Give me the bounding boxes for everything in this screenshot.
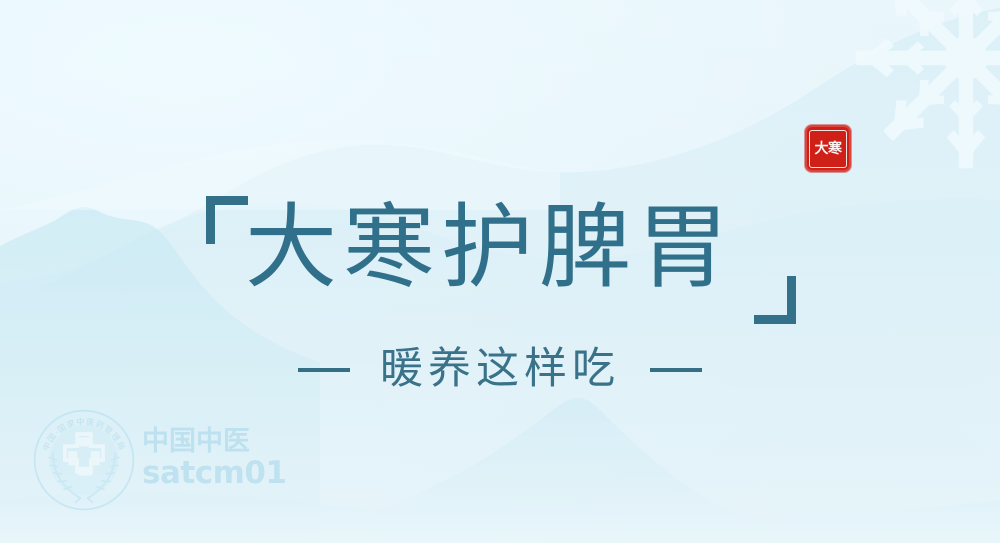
subtitle-group: 暖养这样吃 bbox=[0, 348, 1000, 391]
left-rule bbox=[298, 368, 350, 372]
open-bracket-mark bbox=[206, 196, 248, 244]
solar-term-seal: 大寒 bbox=[805, 125, 851, 172]
close-bracket-mark bbox=[754, 276, 796, 324]
page-title: 大寒护脾胃 bbox=[245, 200, 805, 297]
page-subtitle: 暖养这样吃 bbox=[380, 348, 620, 391]
right-rule bbox=[650, 368, 702, 372]
poster-canvas: 大寒 大寒护脾胃 暖养这样吃 bbox=[0, 0, 1000, 543]
seal-label: 大寒 bbox=[815, 142, 842, 156]
seal-inner-border: 大寒 bbox=[809, 130, 847, 168]
